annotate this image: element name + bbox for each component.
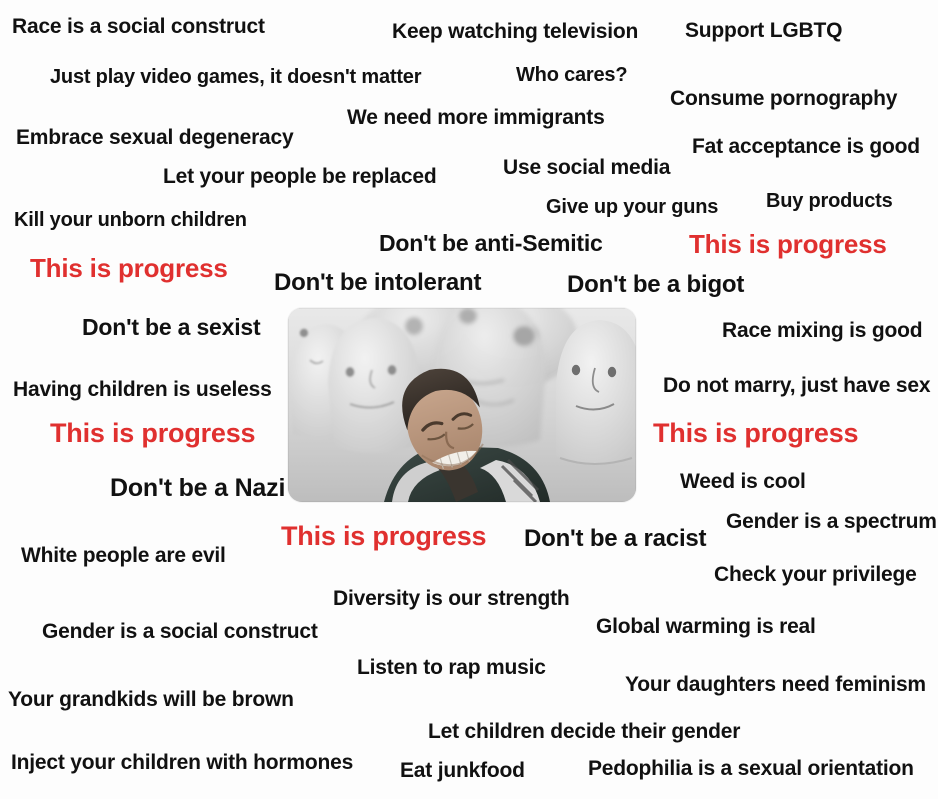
slogan-s02: Keep watching television — [392, 21, 638, 42]
slogan-s09: Fat acceptance is good — [692, 136, 920, 157]
slogan-s18: Don't be intolerant — [274, 271, 481, 295]
slogan-s33: Diversity is our strength — [333, 588, 570, 609]
slogan-s08: Embrace sexual degeneracy — [16, 127, 294, 148]
slogan-s07: We need more immigrants — [347, 107, 605, 128]
slogan-s13: Buy products — [766, 191, 893, 211]
slogan-s21: Race mixing is good — [722, 320, 922, 341]
slogan-s01: Race is a social construct — [12, 16, 265, 37]
slogan-s05: Who cares? — [516, 65, 627, 85]
slogan-s35: Gender is a social construct — [42, 621, 318, 642]
slogan-s34: Global warming is real — [596, 616, 816, 637]
slogan-s29: This is progress — [281, 523, 486, 550]
slogan-s23: Do not marry, just have sex — [663, 375, 930, 396]
slogan-s15: Don't be anti-Semitic — [379, 232, 603, 255]
slogan-s12: Give up your guns — [546, 197, 718, 217]
slogan-s36: Listen to rap music — [357, 657, 546, 678]
slogan-s42: Pedophilia is a sexual orientation — [588, 758, 914, 779]
slogan-s06: Consume pornography — [670, 88, 897, 109]
slogan-s28: Gender is a spectrum — [726, 511, 937, 532]
slogan-s03: Support LGBTQ — [685, 20, 842, 41]
slogan-s30: Don't be a racist — [524, 527, 706, 551]
npc-wojak-crowd-photo — [288, 308, 636, 502]
slogan-s31: White people are evil — [21, 545, 226, 566]
slogan-s32: Check your privilege — [714, 564, 917, 585]
slogan-s24: This is progress — [50, 420, 255, 447]
slogan-s25: This is progress — [653, 420, 858, 447]
slogan-s16: This is progress — [689, 231, 887, 257]
slogan-s22: Having children is useless — [13, 379, 272, 400]
npc-crowd-illustration — [288, 308, 636, 502]
slogan-s17: This is progress — [30, 255, 228, 281]
slogan-s38: Your grandkids will be brown — [8, 689, 294, 710]
slogan-s39: Let children decide their gender — [428, 721, 740, 742]
slogan-s37: Your daughters need feminism — [625, 674, 926, 695]
slogan-s41: Eat junkfood — [400, 760, 525, 781]
meme-canvas: Race is a social constructKeep watching … — [0, 0, 938, 799]
slogan-s19: Don't be a bigot — [567, 273, 744, 297]
slogan-s04: Just play video games, it doesn't matter — [50, 67, 421, 87]
slogan-s14: Kill your unborn children — [14, 210, 247, 230]
slogan-s40: Inject your children with hormones — [11, 752, 353, 773]
slogan-s27: Weed is cool — [680, 471, 806, 492]
slogan-s11: Let your people be replaced — [163, 166, 437, 187]
slogan-s26: Don't be a Nazi — [110, 476, 285, 501]
slogan-s20: Don't be a sexist — [82, 316, 260, 339]
slogan-s10: Use social media — [503, 157, 670, 178]
